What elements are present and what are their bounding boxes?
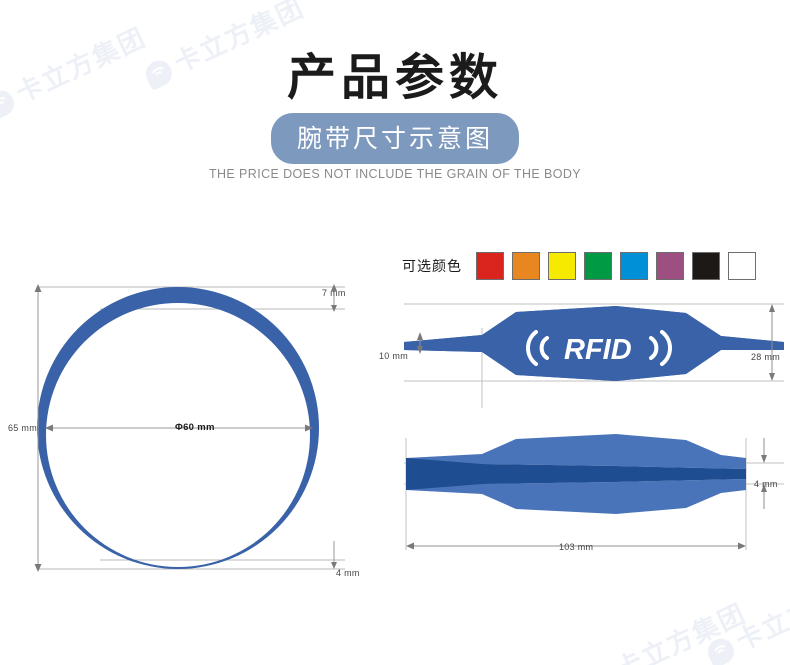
color-swatch-white[interactable] bbox=[728, 252, 756, 280]
color-swatch-orange[interactable] bbox=[512, 252, 540, 280]
color-swatch-yellow[interactable] bbox=[548, 252, 576, 280]
band-diagram: RFID bbox=[386, 288, 790, 570]
color-options-label: 可选颜色 bbox=[402, 256, 462, 276]
band-head-width-label: 28 mm bbox=[751, 352, 780, 362]
color-swatch-black[interactable] bbox=[692, 252, 720, 280]
ring-inner-diameter-label: Φ60 mm bbox=[175, 422, 215, 433]
page-title: 产品参数 bbox=[0, 38, 790, 109]
page-subtitle: THE PRICE DOES NOT INCLUDE THE GRAIN OF … bbox=[0, 167, 790, 181]
color-swatch-red[interactable] bbox=[476, 252, 504, 280]
color-swatch-blue[interactable] bbox=[620, 252, 648, 280]
product-spec-page: 卡立方集团 卡立方集团 卡立方集团 卡立方集团 产品参数 腕带尺寸示意图 THE… bbox=[0, 0, 790, 665]
signal-logo-icon bbox=[704, 634, 739, 665]
section-badge: 腕带尺寸示意图 bbox=[271, 113, 519, 164]
color-swatch-purple[interactable] bbox=[656, 252, 684, 280]
ring-top-thickness-label: 7 mm bbox=[322, 288, 346, 298]
ring-outer-height-label: 65 mm bbox=[8, 423, 37, 433]
band-thickness-label: 4 mm bbox=[754, 479, 778, 489]
watermark: 卡立方集团 bbox=[700, 565, 790, 665]
color-options: 可选颜色 bbox=[402, 252, 756, 280]
ring-bottom-thickness-label: 4 mm bbox=[336, 568, 360, 578]
band-length-label: 103 mm bbox=[559, 542, 593, 552]
color-swatch-green[interactable] bbox=[584, 252, 612, 280]
band-strap-width-label: 10 mm bbox=[379, 351, 408, 361]
rfid-logo-text: RFID bbox=[564, 334, 632, 366]
watermark: 卡立方集团 bbox=[580, 593, 752, 665]
